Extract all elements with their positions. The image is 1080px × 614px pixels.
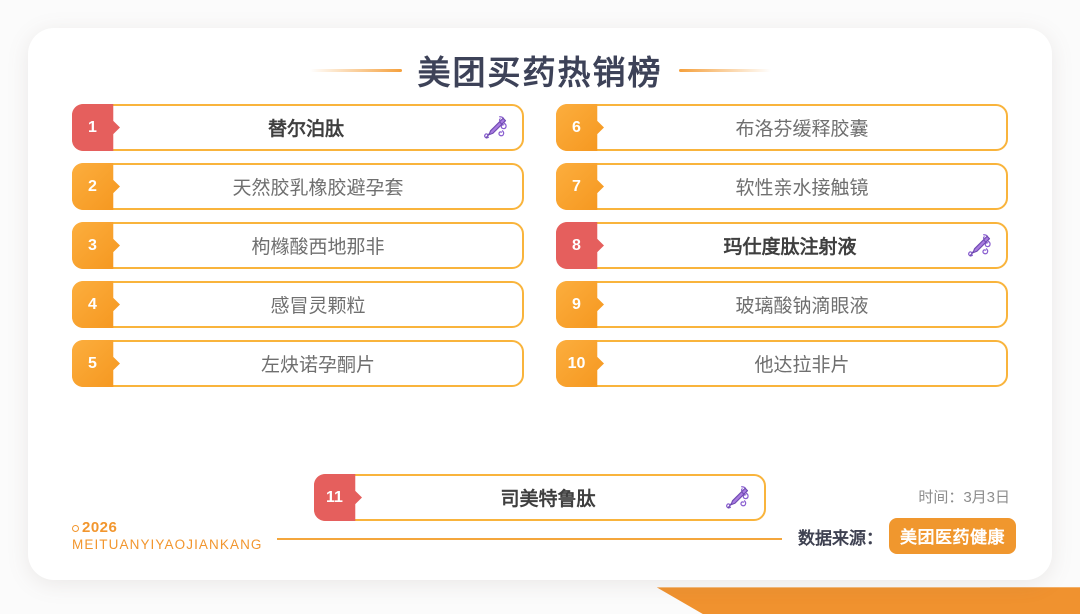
product-name: 软性亲水接触镜 [558,173,1006,200]
ranking-row[interactable]: 5左炔诺孕酮片 [72,340,524,387]
brand-year: 2026 [82,520,117,537]
ranking-row[interactable]: 8玛仕度肽注射液 [556,222,1008,269]
product-name: 替尔泊肽 [74,114,522,141]
source-group: 数据来源： 美团医药健康 [798,518,1016,554]
brand-pinyin: MEITUANYIYAOJIANKANG [72,537,263,552]
rank-badge: 9 [556,281,604,328]
ranking-row[interactable]: 1替尔泊肽 [72,104,524,151]
footer-divider [277,538,782,540]
circle-icon [72,525,79,532]
source-label: 数据来源： [798,524,883,549]
ranking-row[interactable]: 3枸橼酸西地那非 [72,222,524,269]
status-badge: 美团医药健康 [889,518,1016,554]
title-text: 美团买药热销榜 [418,46,663,94]
ranking-row[interactable]: 6布洛芬缓释胶囊 [556,104,1008,151]
product-name: 玛仕度肽注射液 [558,232,1006,259]
rank-badge: 6 [556,104,604,151]
rank-badge: 5 [72,340,120,387]
injection-pen-icon [480,113,510,143]
rank-badge: 2 [72,163,120,210]
product-name: 他达拉非片 [558,350,1006,377]
rank-badge: 7 [556,163,604,210]
product-name: 天然胶乳橡胶避孕套 [74,173,522,200]
rank-badge: 3 [72,222,120,269]
rank-badge: 10 [556,340,604,387]
rank-badge: 1 [72,104,120,151]
rank-badge: 4 [72,281,120,328]
ranking-row[interactable]: 2天然胶乳橡胶避孕套 [72,163,524,210]
product-name: 布洛芬缓释胶囊 [558,114,1006,141]
title-rule-right [679,69,771,72]
page-title: 美团买药热销榜 [28,28,1052,90]
rank-badge: 8 [556,222,604,269]
injection-pen-icon [964,231,994,261]
time-text: 时间：3月3日 [918,486,1010,507]
title-rule-left [310,69,402,72]
brand-mark: 2026 MEITUANYIYAOJIANKANG [72,520,263,552]
product-name: 枸橼酸西地那非 [74,232,522,259]
product-name: 左炔诺孕酮片 [74,350,522,377]
product-name: 玻璃酸钠滴眼液 [558,291,1006,318]
footer: 时间：3月3日 2026 MEITUANYIYAOJIANKANG 数据来源： … [72,486,1016,558]
ranking-row[interactable]: 7软性亲水接触镜 [556,163,1008,210]
ranking-row[interactable]: 9玻璃酸钠滴眼液 [556,281,1008,328]
ranking-row[interactable]: 4感冒灵颗粒 [72,281,524,328]
ranking-grid: 1替尔泊肽6布洛芬缓释胶囊2天然胶乳橡胶避孕套7软性亲水接触镜3枸橼酸西地那非8… [72,104,1008,387]
product-name: 感冒灵颗粒 [74,291,522,318]
ranking-row[interactable]: 10他达拉非片 [556,340,1008,387]
ranking-card: 美团买药热销榜 1替尔泊肽6布洛芬缓释胶囊2天然胶乳橡胶避孕套7软性亲水接触镜3… [28,28,1052,580]
